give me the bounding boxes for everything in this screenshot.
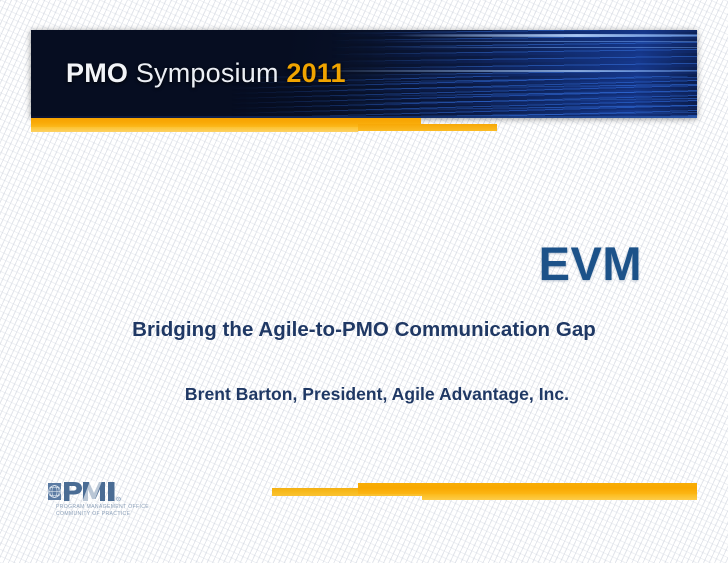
accent-bar-top-secondary (358, 124, 497, 131)
slide-canvas: PMO Symposium 2011 EVM Bridging the Agil… (0, 0, 728, 563)
pmi-globe-icon (48, 483, 61, 500)
pmi-tagline-line1: PROGRAM MANAGEMENT OFFICE (56, 504, 149, 511)
page-subtitle: Bridging the Agile-to-PMO Communication … (0, 318, 728, 342)
pmi-logo: R PROGRAM MANAGEMENT OFFICE COMMUNITY OF… (46, 481, 166, 521)
accent-bar-top-light (31, 127, 358, 132)
banner-title-year: 2011 (286, 58, 345, 88)
banner-background: PMO Symposium 2011 (31, 30, 697, 118)
pmi-logo-icon: R (46, 481, 124, 502)
banner-light-ray-top (397, 34, 697, 37)
banner-title-pmo: PMO (66, 58, 128, 88)
pmi-tagline: PROGRAM MANAGEMENT OFFICE COMMUNITY OF P… (56, 504, 149, 518)
pmi-letter-p (64, 482, 82, 501)
svg-text:R: R (118, 497, 120, 501)
pmi-tagline-line2: COMMUNITY OF PRACTICE (56, 511, 149, 518)
accent-bar-bottom-primary (358, 483, 697, 494)
banner-title-symposium: Symposium (136, 58, 279, 88)
banner-light-ray-mid (297, 70, 697, 72)
presenter-byline: Brent Barton, President, Agile Advantage… (0, 384, 728, 405)
accent-bar-bottom-light (422, 494, 697, 500)
banner-title: PMO Symposium 2011 (66, 58, 346, 89)
page-title: EVM (0, 236, 642, 291)
pmi-letter-i (108, 482, 115, 501)
header-banner: PMO Symposium 2011 (31, 30, 697, 118)
